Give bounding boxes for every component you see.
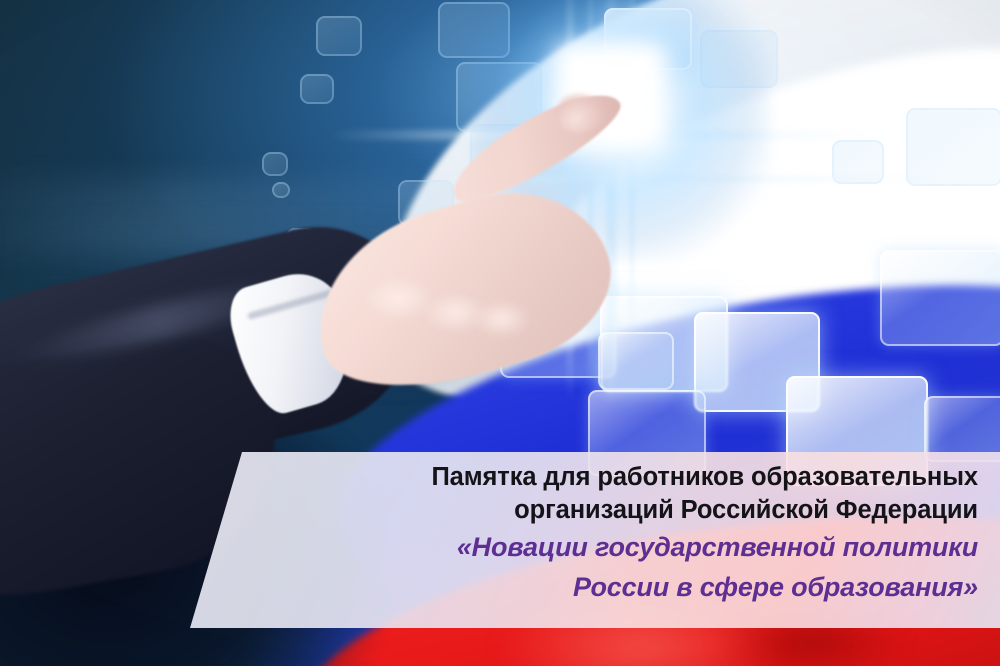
caption-line-4: России в сфере образования» (150, 567, 978, 607)
glass-square (262, 152, 288, 176)
glass-square (906, 108, 1000, 186)
glass-square (272, 182, 290, 198)
glass-square (880, 250, 1000, 346)
knuckle-highlight (470, 300, 540, 342)
glass-square (300, 74, 334, 104)
caption-line-3: «Новации государственной политики (150, 527, 978, 567)
caption-line-1: Памятка для работников образовательных (150, 461, 978, 494)
caption-text-block: Памятка для работников образовательных о… (150, 452, 1000, 628)
glass-square (316, 16, 362, 56)
caption-line-2: организаций Российской Федерации (150, 494, 978, 527)
poster-image: Памятка для работников образовательных о… (0, 0, 1000, 666)
